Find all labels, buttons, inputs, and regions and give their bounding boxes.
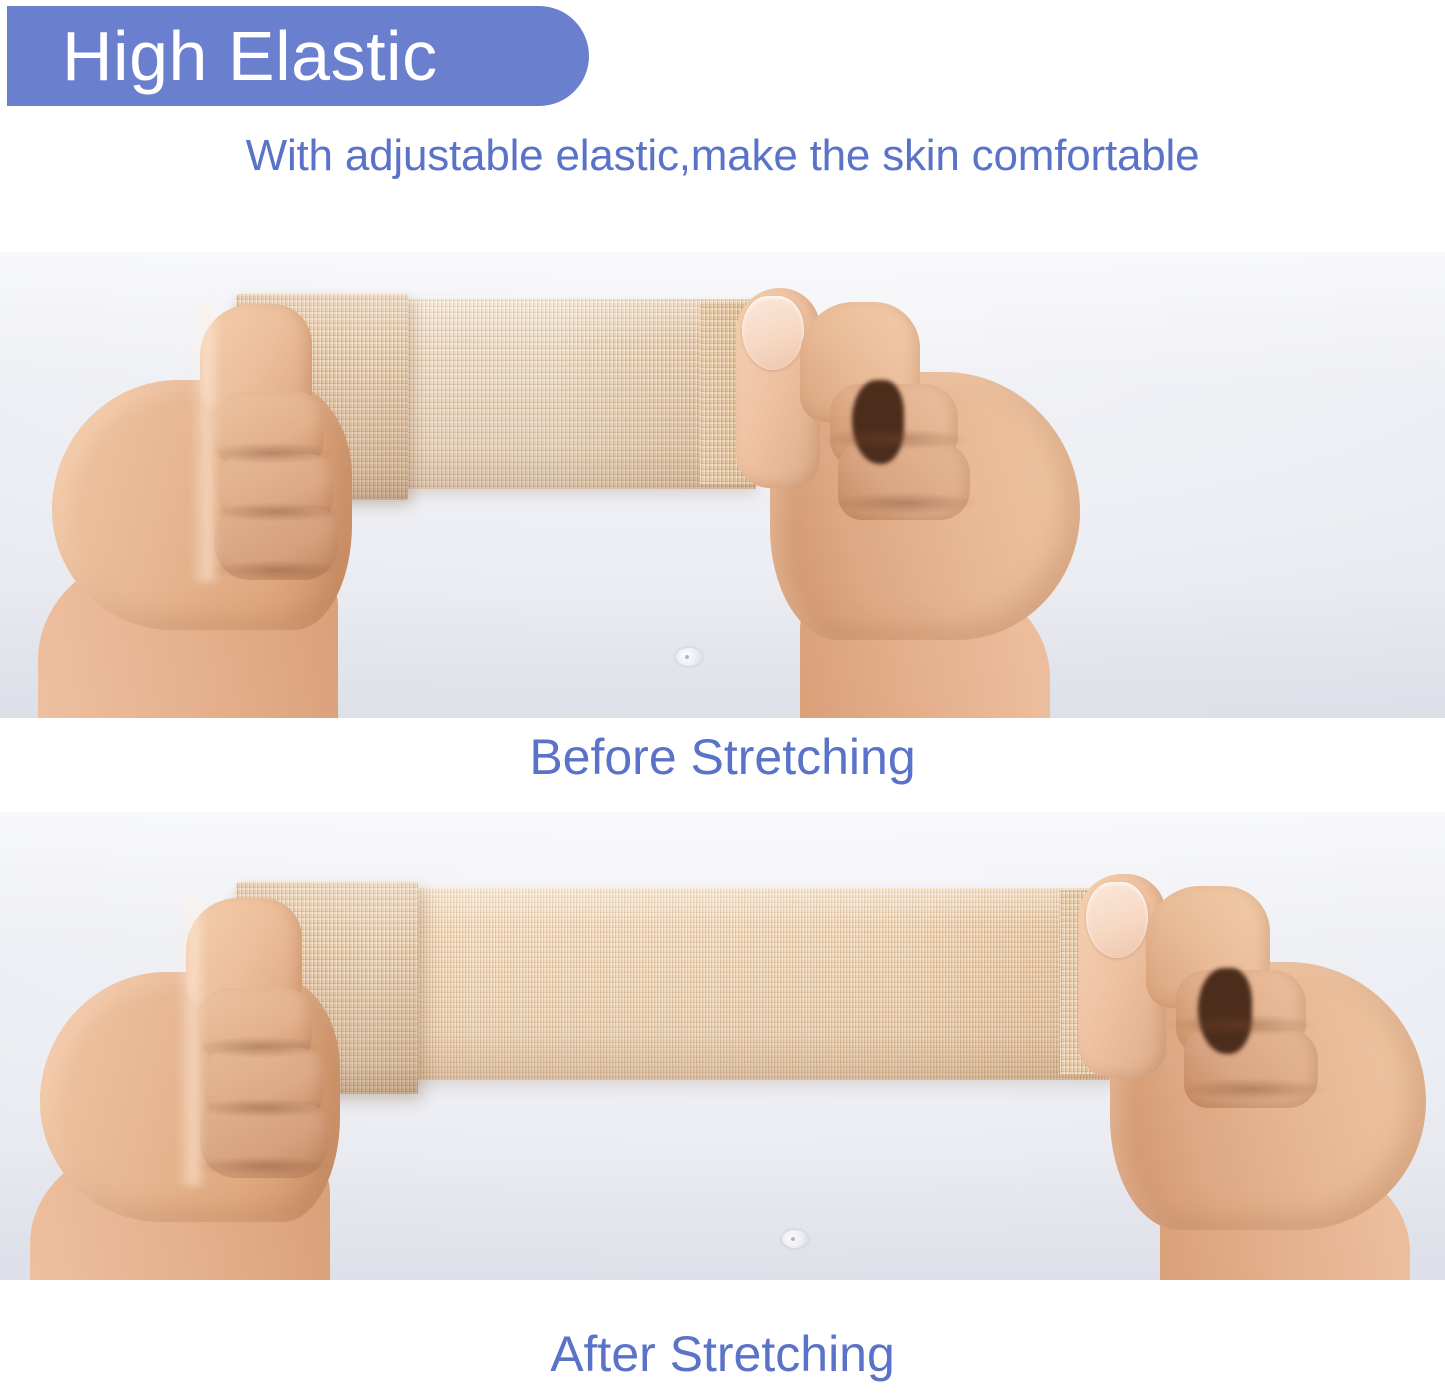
- caption-after-stretching: After Stretching: [0, 1325, 1445, 1383]
- photo-before-stretching: [0, 252, 1445, 718]
- lint-speck: [782, 1230, 808, 1248]
- product-infographic: High Elastic With adjustable elastic,mak…: [0, 0, 1445, 1398]
- caption-before-stretching: Before Stretching: [0, 728, 1445, 786]
- badge-label: High Elastic: [7, 21, 438, 91]
- photo-after-stretching: [0, 812, 1445, 1280]
- high-elastic-badge: High Elastic: [7, 6, 589, 106]
- lint-speck: [676, 648, 702, 666]
- subtitle-text: With adjustable elastic,make the skin co…: [0, 131, 1445, 181]
